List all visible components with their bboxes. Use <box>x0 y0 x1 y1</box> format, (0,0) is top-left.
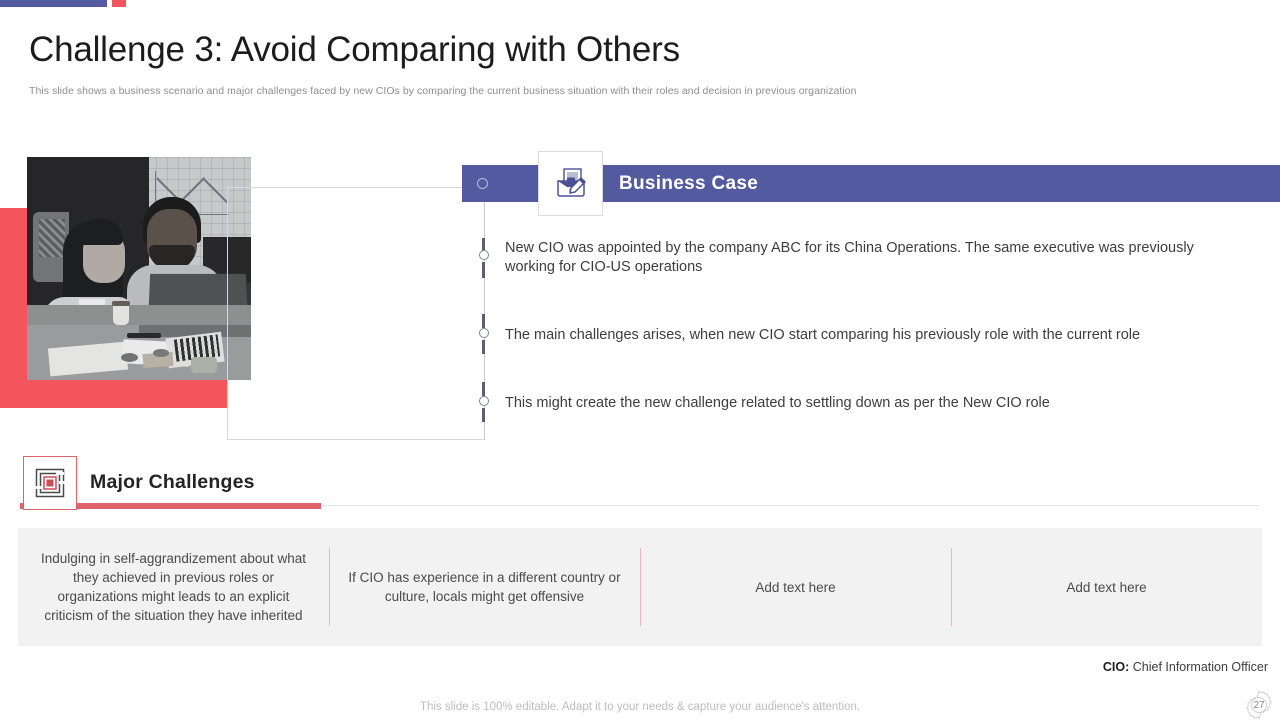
top-accent-square-red <box>112 0 126 7</box>
business-case-bullet-2: The main challenges arises, when new CIO… <box>505 326 1245 345</box>
major-challenges-label: Major Challenges <box>90 471 255 494</box>
slide-canvas: Challenge 3: Avoid Comparing with Others… <box>0 0 1280 720</box>
briefcase-document-pen-icon <box>538 151 603 216</box>
team-photo-image <box>27 157 251 380</box>
challenge-cards-row: Indulging in self-aggrandizement about w… <box>18 528 1262 646</box>
legend-term: CIO: <box>1103 660 1129 674</box>
timeline-node-2 <box>479 328 489 338</box>
challenge-card[interactable]: If CIO has experience in a different cou… <box>329 528 640 646</box>
page-number: 27 <box>1244 690 1274 720</box>
timeline-node-1 <box>479 250 489 260</box>
timeline-tick <box>482 408 485 422</box>
footer-note: This slide is 100% editable. Adapt it to… <box>0 701 1280 713</box>
timeline-tick <box>482 382 485 396</box>
challenge-card[interactable]: Add text here <box>640 528 951 646</box>
challenge-card-text: Add text here <box>1066 578 1146 597</box>
timeline-tick <box>482 262 485 278</box>
major-challenges-hairline <box>321 505 1260 506</box>
maze-target-icon <box>23 456 77 510</box>
timeline-node-3 <box>479 396 489 406</box>
abbreviation-legend: CIO: Chief Information Officer <box>1103 660 1268 674</box>
business-case-bullet-1: New CIO was appointed by the company ABC… <box>505 239 1205 277</box>
business-case-bullet-3: This might create the new challenge rela… <box>505 394 1205 413</box>
challenge-card-text: If CIO has experience in a different cou… <box>343 568 626 606</box>
timeline-tick <box>482 314 485 328</box>
timeline-tick <box>482 340 485 354</box>
circle-marker-icon <box>477 178 488 189</box>
challenge-card-text: Add text here <box>755 578 835 597</box>
challenge-card-text: Indulging in self-aggrandizement about w… <box>32 549 315 625</box>
business-case-label: Business Case <box>619 173 758 195</box>
team-photo <box>27 157 251 380</box>
legend-definition: Chief Information Officer <box>1133 660 1268 674</box>
page-title: Challenge 3: Avoid Comparing with Others <box>29 30 680 70</box>
page-subtitle: This slide shows a business scenario and… <box>29 85 857 97</box>
top-accent-bar-purple <box>0 0 107 7</box>
challenge-card[interactable]: Add text here <box>951 528 1262 646</box>
challenge-card[interactable]: Indulging in self-aggrandizement about w… <box>18 528 329 646</box>
content-outline-box <box>227 187 484 440</box>
